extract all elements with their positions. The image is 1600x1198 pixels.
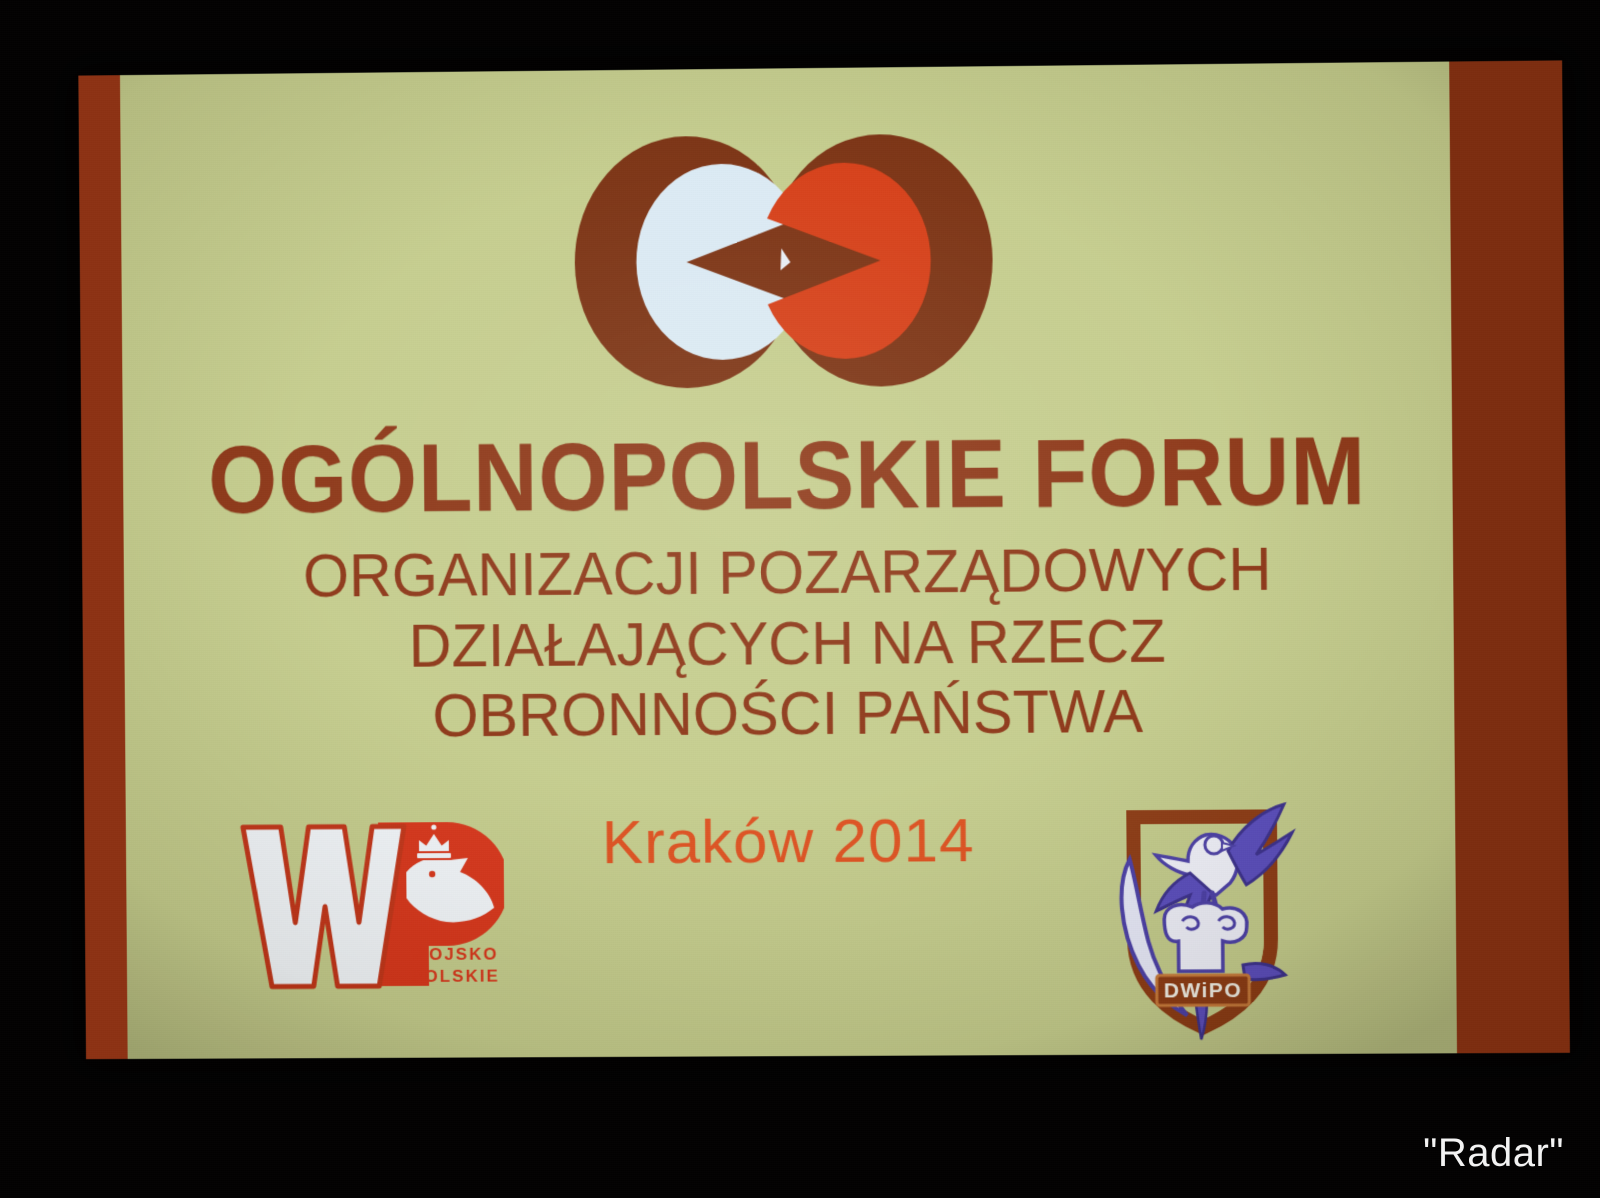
wp-caption-line-1: WOJSKO (411, 945, 499, 964)
slide-canvas: OGÓLNOPOLSKIE FORUM ORGANIZACJI POZARZĄD… (120, 62, 1457, 1059)
crest-label: DWiPO (1164, 979, 1242, 1002)
crest-eagle-head (1205, 836, 1223, 854)
wp-eagle-eye (429, 871, 435, 877)
two-interlocking-rings-emblem (568, 128, 1000, 394)
photo-background: OGÓLNOPOLSKIE FORUM ORGANIZACJI POZARZĄD… (0, 0, 1600, 1198)
subtitle-line-1: ORGANIZACJI POZARZĄDOWYCH (150, 534, 1427, 614)
subtitle-line-3: OBRONNOŚCI PAŃSTWA (151, 675, 1428, 754)
emblem-area (120, 124, 1451, 398)
wp-caption-line-2: POLSKIE (411, 967, 500, 986)
page-title: OGÓLNOPOLSKIE FORUM (169, 423, 1406, 529)
wp-letter-w (243, 826, 405, 986)
photo-watermark: "Radar" (1423, 1131, 1564, 1176)
projected-slide: OGÓLNOPOLSKIE FORUM ORGANIZACJI POZARZĄD… (78, 60, 1570, 1059)
wojsko-polskie-logo: WOJSKO POLSKIE (233, 814, 505, 993)
slide-right-band (1449, 60, 1570, 1053)
subtitle-group: ORGANIZACJI POZARZĄDOWYCH DZIAŁAJĄCYCH N… (124, 533, 1455, 754)
subtitle-line-2: DZIAŁAJĄCYCH NA RZECZ (151, 604, 1428, 683)
dwipo-crest: DWiPO (1093, 788, 1304, 1045)
